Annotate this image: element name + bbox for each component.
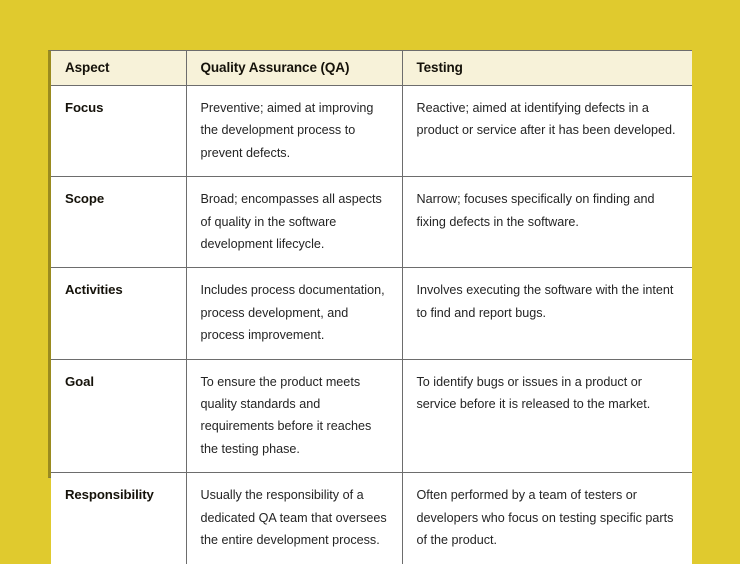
table-row: Activities Includes process documentatio… bbox=[51, 268, 692, 359]
table-row: Focus Preventive; aimed at improving the… bbox=[51, 86, 692, 177]
cell-qa: To ensure the product meets quality stan… bbox=[186, 359, 402, 473]
cell-aspect: Scope bbox=[51, 177, 186, 268]
column-header-aspect: Aspect bbox=[51, 51, 186, 86]
table-body: Focus Preventive; aimed at improving the… bbox=[51, 86, 692, 564]
table-row: Scope Broad; encompasses all aspects of … bbox=[51, 177, 692, 268]
page-canvas: Aspect Quality Assurance (QA) Testing Fo… bbox=[0, 0, 740, 530]
cell-aspect: Goal bbox=[51, 359, 186, 473]
cell-testing: Narrow; focuses specifically on finding … bbox=[402, 177, 692, 268]
cell-qa: Broad; encompasses all aspects of qualit… bbox=[186, 177, 402, 268]
cell-aspect: Responsibility bbox=[51, 473, 186, 564]
cell-testing: To identify bugs or issues in a product … bbox=[402, 359, 692, 473]
cell-testing: Reactive; aimed at identifying defects i… bbox=[402, 86, 692, 177]
table-header-row: Aspect Quality Assurance (QA) Testing bbox=[51, 51, 692, 86]
cell-aspect: Focus bbox=[51, 86, 186, 177]
column-header-testing: Testing bbox=[402, 51, 692, 86]
comparison-table-container: Aspect Quality Assurance (QA) Testing Fo… bbox=[48, 50, 692, 478]
cell-testing: Often performed by a team of testers or … bbox=[402, 473, 692, 564]
column-header-quality-assurance: Quality Assurance (QA) bbox=[186, 51, 402, 86]
cell-qa: Usually the responsibility of a dedicate… bbox=[186, 473, 402, 564]
qa-vs-testing-table: Aspect Quality Assurance (QA) Testing Fo… bbox=[51, 51, 692, 564]
cell-qa: Includes process documentation, process … bbox=[186, 268, 402, 359]
table-row: Responsibility Usually the responsibilit… bbox=[51, 473, 692, 564]
cell-testing: Involves executing the software with the… bbox=[402, 268, 692, 359]
table-header: Aspect Quality Assurance (QA) Testing bbox=[51, 51, 692, 86]
cell-aspect: Activities bbox=[51, 268, 186, 359]
cell-qa: Preventive; aimed at improving the devel… bbox=[186, 86, 402, 177]
table-row: Goal To ensure the product meets quality… bbox=[51, 359, 692, 473]
